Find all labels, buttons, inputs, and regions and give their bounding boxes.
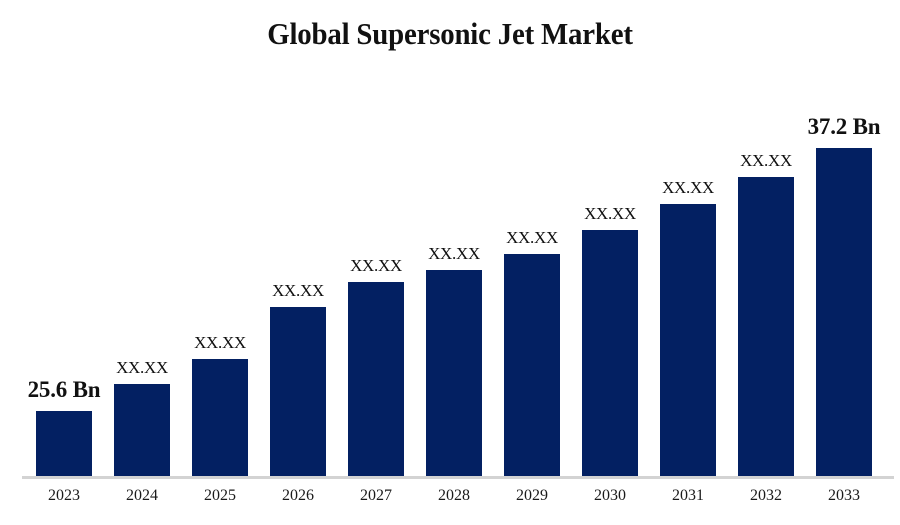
bar-2026[interactable] [270,307,326,476]
bar-value-label-2031: XX.XX [662,178,714,198]
bar-value-label-2028: XX.XX [428,244,480,264]
bar-2030[interactable] [582,230,638,476]
bar-2023[interactable] [36,411,92,476]
x-tick-2023: 2023 [36,487,92,505]
bar-value-label-2023: 25.6 Bn [28,377,101,403]
x-tick-2025: 2025 [192,487,248,505]
bar-value-label-2030: XX.XX [584,204,636,224]
bar-2025[interactable] [192,359,248,476]
x-tick-2030: 2030 [582,487,638,505]
bar-2033[interactable] [816,148,872,476]
bar-2024[interactable] [114,384,170,476]
bar-2027[interactable] [348,282,404,476]
bar-2031[interactable] [660,204,716,476]
x-tick-2029: 2029 [504,487,560,505]
x-axis-line [22,476,894,479]
bar-value-label-2032: XX.XX [740,151,792,171]
bar-2028[interactable] [426,270,482,476]
bar-value-label-2024: XX.XX [116,358,168,378]
bar-value-label-2025: XX.XX [194,333,246,353]
x-tick-2024: 2024 [114,487,170,505]
bar-2029[interactable] [504,254,560,476]
x-tick-2028: 2028 [426,487,482,505]
x-tick-2027: 2027 [348,487,404,505]
bar-value-label-2027: XX.XX [350,256,402,276]
chart-container: Global Supersonic Jet Market 25.6 BnXX.X… [0,0,900,525]
plot-area: 25.6 BnXX.XXXX.XXXX.XXXX.XXXX.XXXX.XXXX.… [0,0,900,525]
x-tick-2033: 2033 [816,487,872,505]
bar-value-label-2029: XX.XX [506,228,558,248]
x-tick-2031: 2031 [660,487,716,505]
bar-value-label-2026: XX.XX [272,281,324,301]
bar-2032[interactable] [738,177,794,476]
x-tick-2032: 2032 [738,487,794,505]
x-tick-2026: 2026 [270,487,326,505]
bar-value-label-2033: 37.2 Bn [808,114,881,140]
